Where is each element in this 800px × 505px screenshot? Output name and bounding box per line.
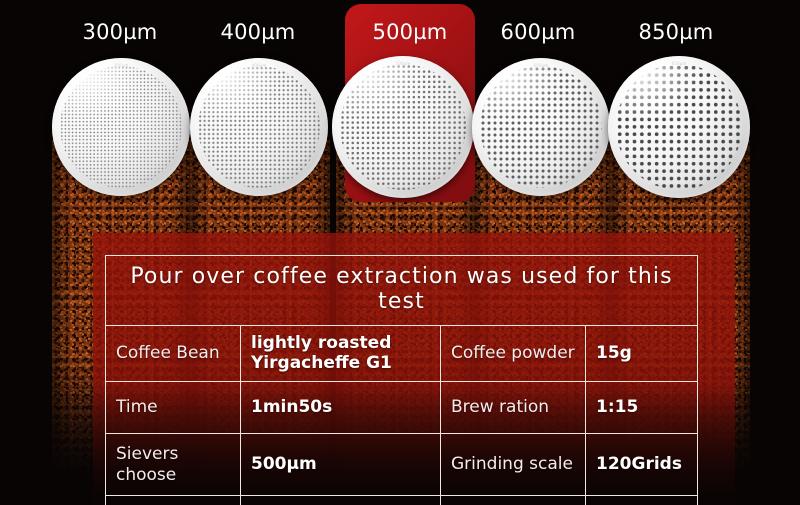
sieve-disc-500um: 500µm: [332, 56, 474, 198]
sieve-mesh-400um: [198, 66, 320, 188]
cell-partial-value2: [586, 496, 696, 505]
sieve-disc-850um: 850µm: [608, 56, 750, 198]
cell-sievers-choose-value: 500µm: [241, 434, 441, 495]
cell-sievers-choose-label: Sievers choose: [106, 434, 241, 495]
cell-grinding-scale-label: Grinding scale: [441, 434, 586, 495]
sieve-disc-400um: 400µm: [190, 58, 328, 196]
sieve-label-300um: 300µm: [50, 20, 190, 44]
sieve-mesh-300um: [60, 66, 182, 188]
sieve-rim-text-500um: 500µm: [332, 61, 474, 66]
cell-coffee-bean-value: lightly roasted Yirgacheffe G1: [241, 326, 441, 381]
table-row: Sievers choose 500µm Grinding scale 120G…: [106, 434, 697, 496]
sieve-label-400um: 400µm: [188, 20, 328, 44]
cell-brew-ratio-label: Brew ration: [441, 382, 586, 433]
sieve-rim-text-600um: 600µm: [472, 63, 610, 68]
sieve-disc-300um: 300µm: [52, 58, 190, 196]
sieve-mesh-850um: [616, 64, 742, 190]
cell-grinding-scale-value: 120Grids: [586, 434, 696, 495]
spec-table-title-row: Pour over coffee extraction was used for…: [106, 256, 697, 326]
sieve-label-600um: 600µm: [468, 20, 608, 44]
sieve-label-500um: 500µm: [340, 20, 480, 44]
cell-time-value: 1min50s: [241, 382, 441, 433]
cell-time-label: Time: [106, 382, 241, 433]
cell-partial-value: [241, 496, 441, 505]
cell-coffee-powder-label: Coffee powder: [441, 326, 586, 381]
cell-partial-label2: [441, 496, 586, 505]
cell-brew-ratio-value: 1:15: [586, 382, 696, 433]
cell-partial-label: [106, 496, 241, 505]
sieve-label-row: 300µm 400µm 500µm 600µm 850µm: [0, 0, 800, 60]
sieve-rim-text-850um: 850µm: [608, 61, 750, 66]
spec-table-title: Pour over coffee extraction was used for…: [106, 256, 697, 325]
sieve-mesh-500um: [340, 64, 466, 190]
product-infographic: 300µm 400µm 500µm 600µm 850µm 300µm 400µ…: [0, 0, 800, 505]
cell-coffee-powder-value: 15g: [586, 326, 696, 381]
sieve-rim-text-400um: 400µm: [190, 63, 328, 68]
sieve-rim-text-300um: 300µm: [52, 63, 190, 68]
sieve-mesh-600um: [480, 66, 602, 188]
sieve-disc-600um: 600µm: [472, 58, 610, 196]
table-row: Time 1min50s Brew ration 1:15: [106, 382, 697, 434]
sieve-label-850um: 850µm: [606, 20, 746, 44]
table-row: Coffee Bean lightly roasted Yirgacheffe …: [106, 326, 697, 382]
table-row-partial: [106, 496, 697, 505]
spec-table: Pour over coffee extraction was used for…: [105, 255, 698, 505]
cell-coffee-bean-label: Coffee Bean: [106, 326, 241, 381]
